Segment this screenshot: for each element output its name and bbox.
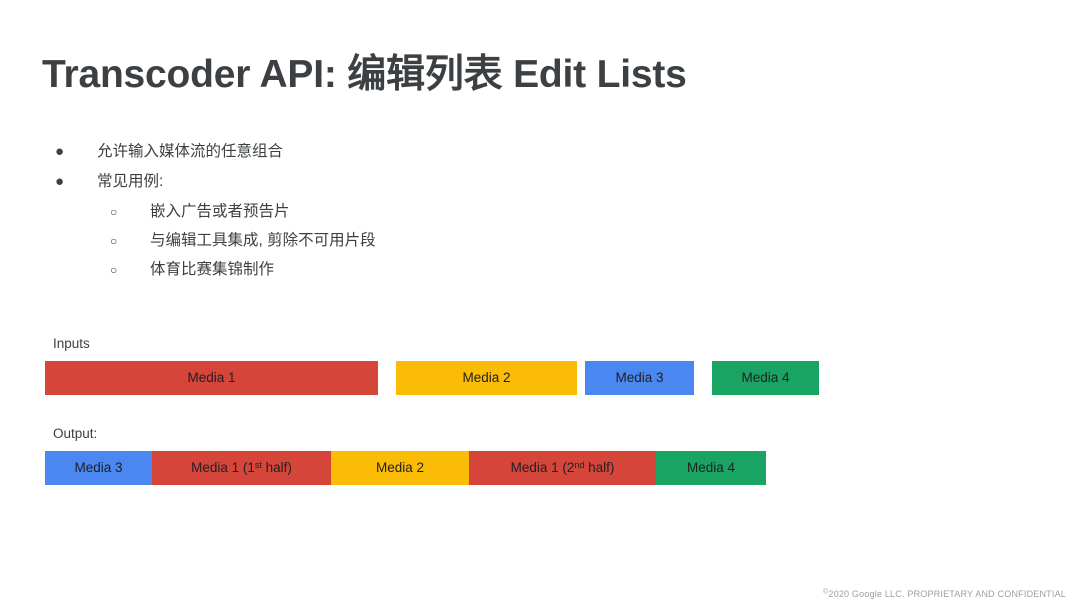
media-segment-bar: Media 1 (2nd half) bbox=[469, 451, 656, 485]
media-segment-label: Media 1 (1st half) bbox=[191, 461, 292, 475]
ordinal-suffix: st bbox=[255, 460, 262, 470]
media-segment-bar: Media 4 bbox=[712, 361, 819, 395]
footer-text: 2020 Google LLC. PROPRIETARY AND CONFIDE… bbox=[828, 589, 1066, 599]
media-segment-bar: Media 2 bbox=[331, 451, 469, 485]
page-title: Transcoder API: 编辑列表 Edit Lists bbox=[42, 52, 687, 99]
bullet-list: ●允许输入媒体流的任意组合●常见用例:○嵌入广告或者预告片○与编辑工具集成, 剪… bbox=[55, 140, 675, 287]
media-segment-label: Media 4 bbox=[687, 461, 735, 475]
media-segment-bar: Media 3 bbox=[45, 451, 152, 485]
bullet-label: 与编辑工具集成, 剪除不可用片段 bbox=[150, 229, 376, 253]
bullet-dot-icon: ● bbox=[55, 170, 97, 194]
media-segment-label: Media 1 bbox=[187, 371, 235, 385]
bullet-hollow-icon: ○ bbox=[110, 229, 150, 253]
bullet-dot-icon: ● bbox=[55, 140, 97, 164]
ordinal-suffix: nd bbox=[574, 460, 584, 470]
media-segment-bar: Media 1 (1st half) bbox=[152, 451, 331, 485]
bullet-label: 允许输入媒体流的任意组合 bbox=[97, 140, 283, 164]
media-segment-bar: Media 3 bbox=[585, 361, 694, 395]
bullet-item: ●允许输入媒体流的任意组合 bbox=[55, 140, 675, 164]
media-segment-label: Media 1 (2nd half) bbox=[511, 461, 615, 475]
media-segment-label: Media 3 bbox=[615, 371, 663, 385]
bullet-label: 常见用例: bbox=[97, 170, 163, 194]
bullet-hollow-icon: ○ bbox=[110, 258, 150, 282]
bullet-item: ●常见用例: bbox=[55, 170, 675, 194]
media-segment-label: Media 4 bbox=[741, 371, 789, 385]
media-segment-label: Media 2 bbox=[462, 371, 510, 385]
output-row-label: Output: bbox=[53, 426, 97, 442]
bullet-item: ○嵌入广告或者预告片 bbox=[55, 200, 675, 224]
bullet-item: ○体育比赛集锦制作 bbox=[55, 258, 675, 282]
bullet-label: 嵌入广告或者预告片 bbox=[150, 200, 290, 224]
bullet-label: 体育比赛集锦制作 bbox=[150, 258, 274, 282]
slide: Transcoder API: 编辑列表 Edit Lists ●允许输入媒体流… bbox=[0, 0, 1080, 607]
bullet-item: ○与编辑工具集成, 剪除不可用片段 bbox=[55, 229, 675, 253]
media-segment-bar: Media 4 bbox=[656, 451, 766, 485]
bullet-hollow-icon: ○ bbox=[110, 200, 150, 224]
media-segment-bar: Media 2 bbox=[396, 361, 577, 395]
inputs-row-label: Inputs bbox=[53, 336, 90, 352]
media-segment-bar: Media 1 bbox=[45, 361, 378, 395]
media-segment-label: Media 3 bbox=[74, 461, 122, 475]
media-segment-label: Media 2 bbox=[376, 461, 424, 475]
footer-copyright: ©2020 Google LLC. PROPRIETARY AND CONFID… bbox=[823, 589, 1066, 599]
